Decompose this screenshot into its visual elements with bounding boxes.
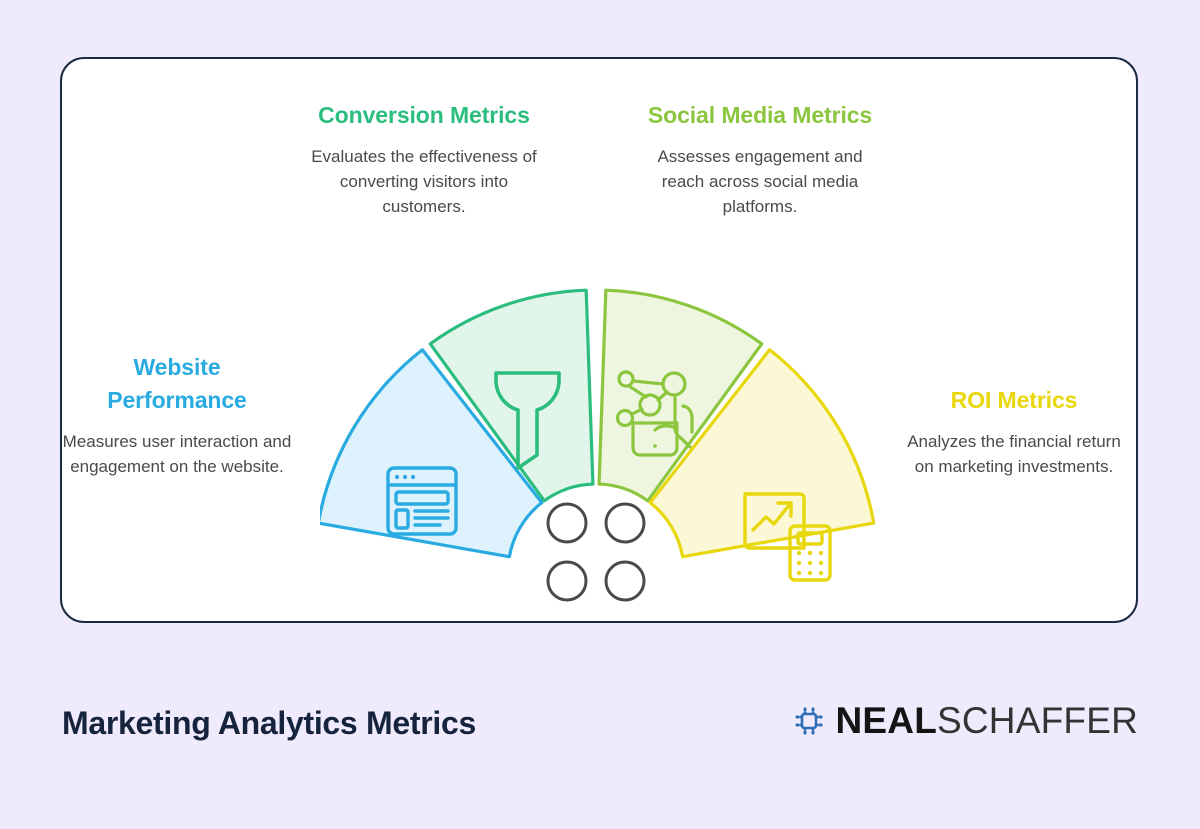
- infographic-root: Conversion Metrics Evaluates the effecti…: [0, 0, 1200, 829]
- fan-diagram: [320, 288, 880, 608]
- chip-dots-icon: [792, 704, 826, 738]
- center-circle: [548, 504, 586, 542]
- social-media-metrics-description: Assesses engagement and reach across soc…: [645, 144, 875, 219]
- brand-name-bold: NEAL: [835, 700, 937, 741]
- block-roi-metrics: ROI Metrics Analyzes the financial retur…: [898, 384, 1130, 479]
- block-social-media-metrics: Social Media Metrics Assesses engagement…: [645, 99, 875, 219]
- brand-name-light: SCHAFFER: [937, 700, 1138, 741]
- conversion-metrics-description: Evaluates the effectiveness of convertin…: [309, 144, 539, 219]
- center-circle: [548, 562, 586, 600]
- center-circle: [606, 562, 644, 600]
- block-website-performance: Website Performance Measures user intera…: [62, 351, 292, 479]
- block-conversion-metrics: Conversion Metrics Evaluates the effecti…: [309, 99, 539, 219]
- center-circle: [606, 504, 644, 542]
- conversion-metrics-title: Conversion Metrics: [309, 99, 539, 132]
- website-performance-description: Measures user interaction and engagement…: [62, 429, 292, 479]
- website-performance-title: Website Performance: [62, 351, 292, 417]
- social-media-metrics-title: Social Media Metrics: [645, 99, 875, 132]
- roi-metrics-title: ROI Metrics: [898, 384, 1130, 417]
- brand-wordmark: NEALSCHAFFER: [835, 700, 1138, 742]
- page-title: Marketing Analytics Metrics: [62, 705, 476, 742]
- brand-logo: NEALSCHAFFER: [792, 700, 1138, 742]
- roi-metrics-description: Analyzes the financial return on marketi…: [898, 429, 1130, 479]
- center-circles: [548, 504, 644, 600]
